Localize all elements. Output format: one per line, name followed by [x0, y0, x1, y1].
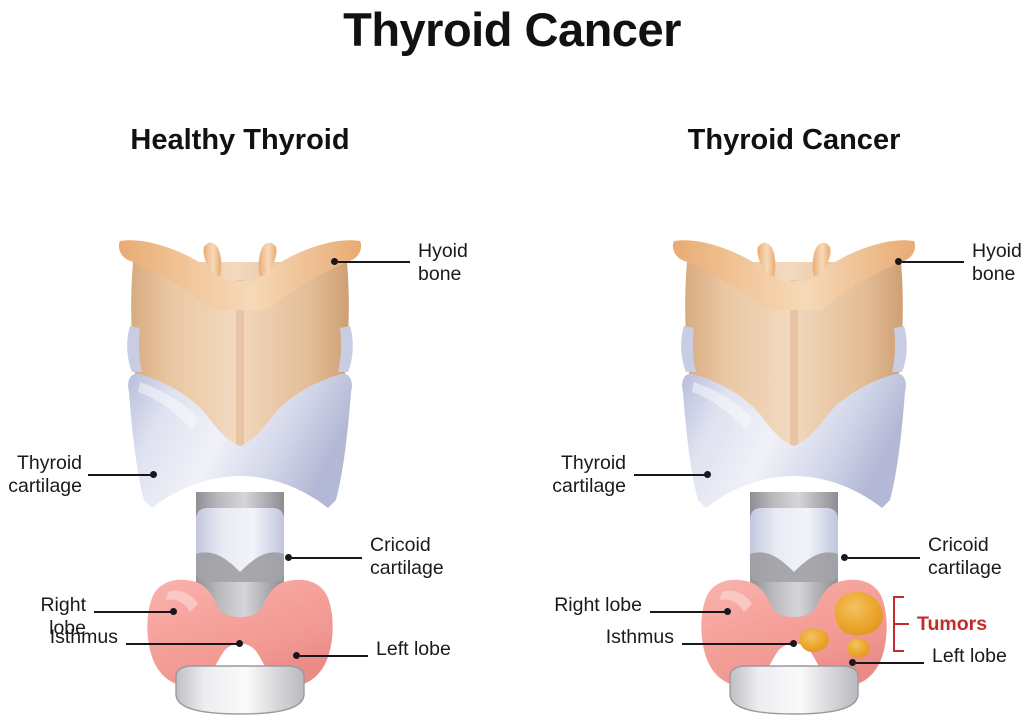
leader-thyroid-cartilage-right	[634, 474, 706, 476]
dot-thyroid-cartilage-left	[150, 471, 157, 478]
dot-hyoid-bone-left	[331, 258, 338, 265]
dot-isthmus-right	[790, 640, 797, 647]
leader-cricoid-cartilage-left	[292, 557, 362, 559]
label-cricoid-cartilage-left: Cricoid cartilage	[370, 534, 444, 580]
leader-thyroid-cartilage-left	[88, 474, 154, 476]
leader-hyoid-bone-left	[338, 261, 410, 263]
trachea-ring	[730, 666, 858, 714]
label-thyroid-cartilage-right: Thyroid cartilage	[540, 452, 626, 498]
label-thyroid-cartilage-left: Thyroid cartilage	[0, 452, 82, 498]
label-left-lobe-left: Left lobe	[376, 638, 451, 661]
label-isthmus-left: Isthmus	[0, 626, 118, 649]
trachea-ring	[176, 666, 304, 714]
tumor-nodule-small	[847, 638, 870, 657]
label-hyoid-bone-right: Hyoid bone	[972, 240, 1022, 286]
leader-cricoid-cartilage-right	[848, 557, 920, 559]
leader-left-lobe-right	[856, 662, 924, 664]
dot-thyroid-cartilage-right	[704, 471, 711, 478]
dot-left-lobe-left	[293, 652, 300, 659]
label-cricoid-cartilage-right: Cricoid cartilage	[928, 534, 1002, 580]
label-right-lobe-right: Right lobe	[530, 594, 642, 617]
leader-isthmus-left	[126, 643, 240, 645]
dot-right-lobe-left	[170, 608, 177, 615]
dot-hyoid-bone-right	[895, 258, 902, 265]
diagram-page: Thyroid Cancer Healthy Thyroid Thyroid C…	[0, 0, 1024, 720]
tumors-bracket	[893, 596, 909, 652]
dot-left-lobe-right	[849, 659, 856, 666]
label-left-lobe-right: Left lobe	[932, 645, 1007, 668]
dot-isthmus-left	[236, 640, 243, 647]
dot-cricoid-cartilage-right	[841, 554, 848, 561]
leader-right-lobe-left	[94, 611, 174, 613]
dot-cricoid-cartilage-left	[285, 554, 292, 561]
label-tumors: Tumors	[917, 613, 987, 636]
label-hyoid-bone-left: Hyoid bone	[418, 240, 468, 286]
dot-right-lobe-right	[724, 608, 731, 615]
label-isthmus-right: Isthmus	[530, 626, 674, 649]
leader-left-lobe-left	[300, 655, 368, 657]
leader-right-lobe-right	[650, 611, 728, 613]
leader-hyoid-bone-right	[902, 261, 964, 263]
leader-isthmus-right	[682, 643, 794, 645]
